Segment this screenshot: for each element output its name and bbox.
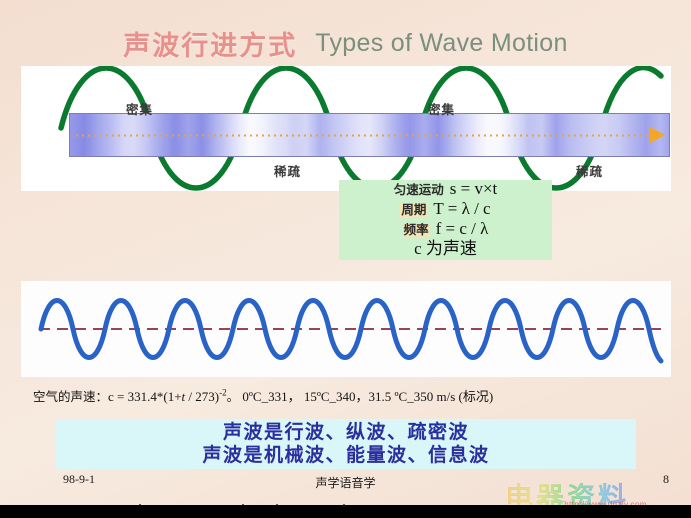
blue-sine-wave bbox=[21, 281, 671, 377]
formula-label-1: 匀速运动 bbox=[394, 184, 444, 197]
label-rare-1: 稀疏 bbox=[274, 161, 301, 180]
propagation-dotted-line bbox=[74, 134, 649, 137]
compression-rarefaction-bar bbox=[69, 113, 670, 157]
formula-equation-2: T = λ / c bbox=[433, 200, 490, 217]
label-dense-2: 密集 bbox=[428, 99, 455, 118]
formula-label-3: 频率 bbox=[403, 224, 430, 237]
formula-label-2: 周期 bbox=[400, 204, 427, 217]
formula-row-2: 周期 T = λ / c bbox=[400, 200, 490, 220]
formula-row-3: 频率 f = c / λ bbox=[403, 220, 489, 240]
speed-formula-tail: / 273) bbox=[185, 389, 219, 404]
speed-formula-head: c = 331.4*(1+ bbox=[108, 389, 182, 404]
longitudinal-wave-panel: 密集 密集 稀疏 稀疏 bbox=[21, 66, 671, 191]
slide-title: 声波行进方式 Types of Wave Motion bbox=[0, 24, 691, 62]
page-title-english: Types of Wave Motion bbox=[315, 29, 567, 58]
conclusion-line-2: 声波是机械波、能量波、信息波 bbox=[202, 444, 489, 467]
label-rare-2: 稀疏 bbox=[576, 161, 603, 180]
conclusion-box: 声波是行波、纵波、疏密波 声波是机械波、能量波、信息波 bbox=[56, 419, 636, 469]
speed-of-sound-formula: 空气的声速：c = 331.4*(1+t / 273)-2。 0ºC_331， … bbox=[33, 386, 663, 406]
formula-equation-1: s = v×t bbox=[450, 180, 498, 197]
formula-equation-3: f = c / λ bbox=[436, 220, 489, 237]
formula-row-1: 匀速运动 s = v×t bbox=[394, 180, 498, 200]
speed-period: 。 bbox=[227, 390, 240, 404]
speed-values: 0ºC_331， 15ºC_340，31.5 ºC_350 m/s (标况) bbox=[242, 389, 493, 404]
speed-formula-exponent: -2 bbox=[219, 388, 227, 398]
conclusion-line-1: 声波是行波、纵波、疏密波 bbox=[223, 421, 469, 444]
bottom-black-bar bbox=[0, 505, 691, 518]
page-title-chinese: 声波行进方式 bbox=[123, 24, 297, 63]
label-dense-1: 密集 bbox=[126, 99, 153, 118]
speed-label: 空气的声速： bbox=[33, 390, 108, 404]
propagation-arrow-icon bbox=[650, 127, 665, 143]
transverse-wave-panel bbox=[21, 281, 671, 377]
wave-formula-box: 匀速运动 s = v×t 周期 T = λ / c 频率 f = c / λ c… bbox=[339, 180, 552, 260]
slide-canvas: 声波行进方式 Types of Wave Motion 密集 密集 稀疏 稀疏 … bbox=[0, 0, 691, 518]
